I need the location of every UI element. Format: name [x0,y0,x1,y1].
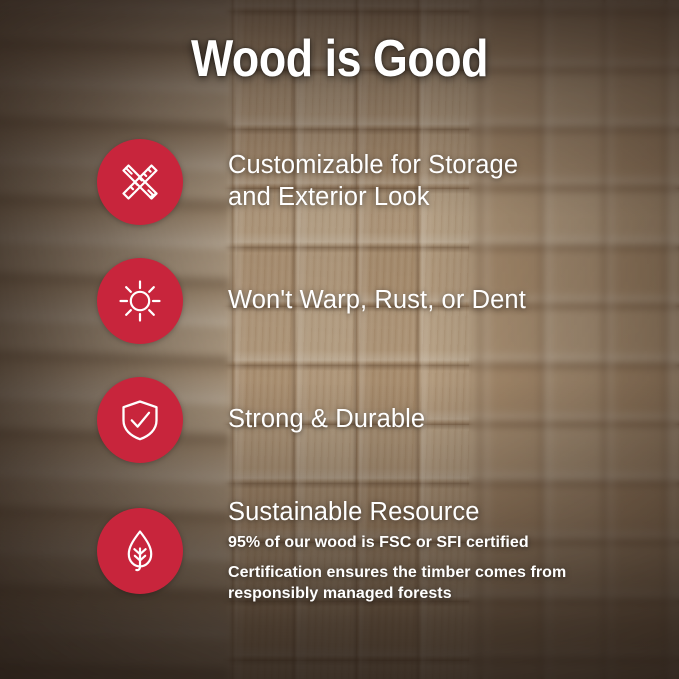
feature-title: Won't Warp, Rust, or Dent [228,285,526,317]
icon-badge-sun [97,258,183,344]
wood-is-good-infographic: Wood is Good [0,0,679,679]
feature-row-customizable: Customizable for Storage and Exterior Lo… [97,139,518,225]
sun-icon [115,276,165,326]
page-title: Wood is Good [48,32,632,87]
feature-subtitle-certified: 95% of our wood is FSC or SFI certified [228,532,566,553]
feature-text-strong-durable: Strong & Durable [228,404,425,436]
feature-subtitle-certification: Certification ensures the timber comes f… [228,562,566,605]
feature-text-customizable: Customizable for Storage and Exterior Lo… [228,150,518,214]
ruler-pencil-icon [115,157,165,207]
infographic-content: Wood is Good [0,0,679,679]
shield-check-icon [115,395,165,445]
feature-title: Customizable for Storage and Exterior Lo… [228,150,518,214]
leaf-icon [115,526,165,576]
feature-row-strong-durable: Strong & Durable [97,377,425,463]
feature-title: Sustainable Resource [228,497,566,529]
feature-row-sustainable: Sustainable Resource 95% of our wood is … [97,497,566,605]
icon-badge-leaf [97,508,183,594]
icon-badge-ruler-pencil [97,139,183,225]
feature-text-sustainable: Sustainable Resource 95% of our wood is … [228,497,566,605]
icon-badge-shield [97,377,183,463]
feature-text-wont-warp: Won't Warp, Rust, or Dent [228,285,526,317]
feature-row-wont-warp: Won't Warp, Rust, or Dent [97,258,526,344]
feature-title: Strong & Durable [228,404,425,436]
